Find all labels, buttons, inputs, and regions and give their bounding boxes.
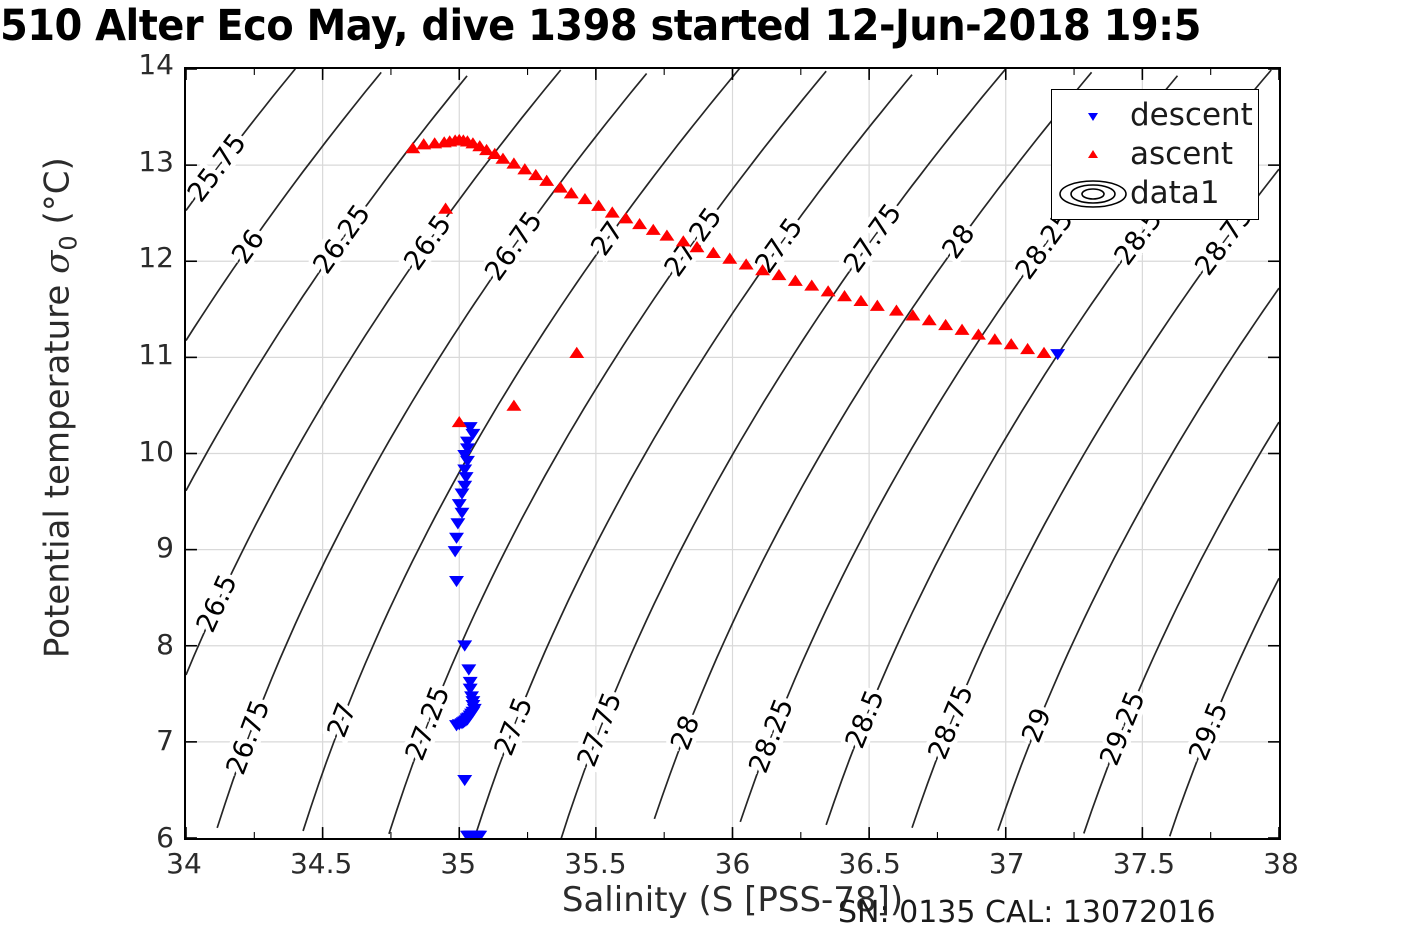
sigma-symbol: σ [37, 251, 77, 274]
ascent-marker [618, 212, 633, 223]
contour-label: 28.5 [840, 686, 891, 753]
contour-label: 25.75 [186, 128, 253, 208]
ascent-marker [853, 295, 868, 306]
figure-title: 510 Alter Eco May, dive 1398 started 12-… [0, 0, 1358, 54]
contour-label: 27.5 [489, 693, 540, 760]
ascent-marker [591, 200, 606, 211]
x-tick-label: 37.5 [1099, 847, 1189, 880]
descent-marker [455, 489, 470, 500]
x-tick-label: 36.5 [825, 847, 915, 880]
ascent-marker [564, 187, 579, 198]
contour-label: 28.75 [922, 681, 980, 764]
descent-marker [449, 533, 464, 544]
y-axis-label: Potential temperature σ0 (°C) [37, 58, 82, 758]
ascent-marker [506, 400, 521, 411]
contour-label: 26.5 [191, 570, 244, 637]
descent-marker [455, 508, 470, 519]
legend-item-ascent[interactable]: ascent [1052, 135, 1258, 174]
descent-marker-icon [1056, 106, 1130, 126]
contour-label: 26.25 [307, 199, 377, 280]
ascent-marker [632, 218, 647, 229]
ascent-marker [528, 169, 543, 180]
legend-label-descent: descent [1130, 100, 1253, 131]
ascent-marker-icon [1056, 145, 1130, 165]
y-tick-label: 12 [104, 241, 174, 274]
legend-item-descent[interactable]: descent [1052, 96, 1258, 135]
contour-label: 27 [322, 699, 363, 742]
legend-label-data1: data1 [1130, 178, 1220, 209]
y-tick-label: 13 [104, 145, 174, 178]
ascent-marker [1037, 347, 1052, 358]
figure-root: 510 Alter Eco May, dive 1398 started 12-… [0, 0, 1417, 945]
descent-marker [449, 576, 464, 587]
ascent-marker [821, 285, 836, 296]
ascent-marker [646, 224, 661, 235]
ascent-marker [788, 275, 803, 286]
descent-marker [461, 664, 476, 675]
x-tick-label: 34.5 [276, 847, 366, 880]
contour-label: 28.25 [743, 694, 800, 777]
ascent-marker [804, 279, 819, 290]
contour-label: 29.25 [1094, 687, 1152, 770]
ascent-marker [837, 290, 852, 301]
descent-marker [1050, 349, 1065, 360]
contour-label: 29.5 [1183, 698, 1234, 765]
descent-marker [448, 546, 463, 557]
sigma-subscript: 0 [55, 235, 83, 250]
ascent-marker [722, 253, 737, 264]
contour-label: 27.25 [400, 682, 457, 765]
ascent-marker [1020, 343, 1035, 354]
legend-item-data1[interactable]: data1 [1052, 174, 1258, 213]
descent-marker [450, 518, 465, 529]
contour-label: 26 [226, 224, 271, 270]
ascent-marker [706, 247, 721, 258]
contour-label: 26.5 [398, 209, 458, 276]
contour-label: 27.75 [838, 198, 908, 278]
contour-label: 26.75 [479, 206, 549, 287]
ascent-marker [938, 319, 953, 330]
y-tick-label: 9 [104, 531, 174, 564]
y-axis-label-prefix: Potential temperature [37, 274, 77, 658]
ascent-marker [605, 206, 620, 217]
x-tick-label: 35 [413, 847, 503, 880]
isopycnal-29.25 [1084, 422, 1279, 833]
contour-label: 28 [936, 219, 981, 265]
ascent-marker [922, 314, 937, 325]
ascent-marker [553, 181, 568, 192]
contour-label: 27.5 [749, 212, 809, 279]
contour-label: 26.75 [221, 696, 277, 779]
ascent-marker [577, 193, 592, 204]
x-tick-label: 38 [1236, 847, 1326, 880]
sensor-serial-annotation: SN: 0135 CAL: 13072016 [838, 895, 1216, 930]
contour-label: 29 [1016, 704, 1058, 747]
y-tick-label: 8 [104, 628, 174, 661]
y-tick-label: 11 [104, 338, 174, 371]
ascent-marker [870, 300, 885, 311]
x-tick-label: 36 [688, 847, 778, 880]
ascent-marker [659, 229, 674, 240]
ascent-marker [955, 324, 970, 335]
x-tick-label: 34 [139, 847, 229, 880]
y-tick-label: 10 [104, 435, 174, 468]
ascent-marker [569, 347, 584, 358]
contour-label: 27.75 [571, 688, 628, 771]
x-tick-label: 37 [962, 847, 1052, 880]
isopycnal-29 [998, 288, 1279, 830]
ascent-marker [438, 203, 453, 214]
contour-label: 27.25 [658, 202, 728, 283]
x-tick-label: 35.5 [550, 847, 640, 880]
contour-label: 28 [665, 711, 706, 754]
contour-ellipses-icon [1056, 177, 1130, 211]
ascent-marker [539, 175, 554, 186]
y-tick-label: 7 [104, 724, 174, 757]
legend[interactable]: descent ascent data1 [1051, 89, 1259, 220]
ascent-marker [452, 416, 467, 427]
y-axis-label-suffix: (°C) [37, 157, 77, 235]
ascent-marker [987, 333, 1002, 344]
y-tick-label: 14 [104, 48, 174, 81]
ascent-marker [889, 304, 904, 315]
legend-label-ascent: ascent [1130, 139, 1233, 170]
